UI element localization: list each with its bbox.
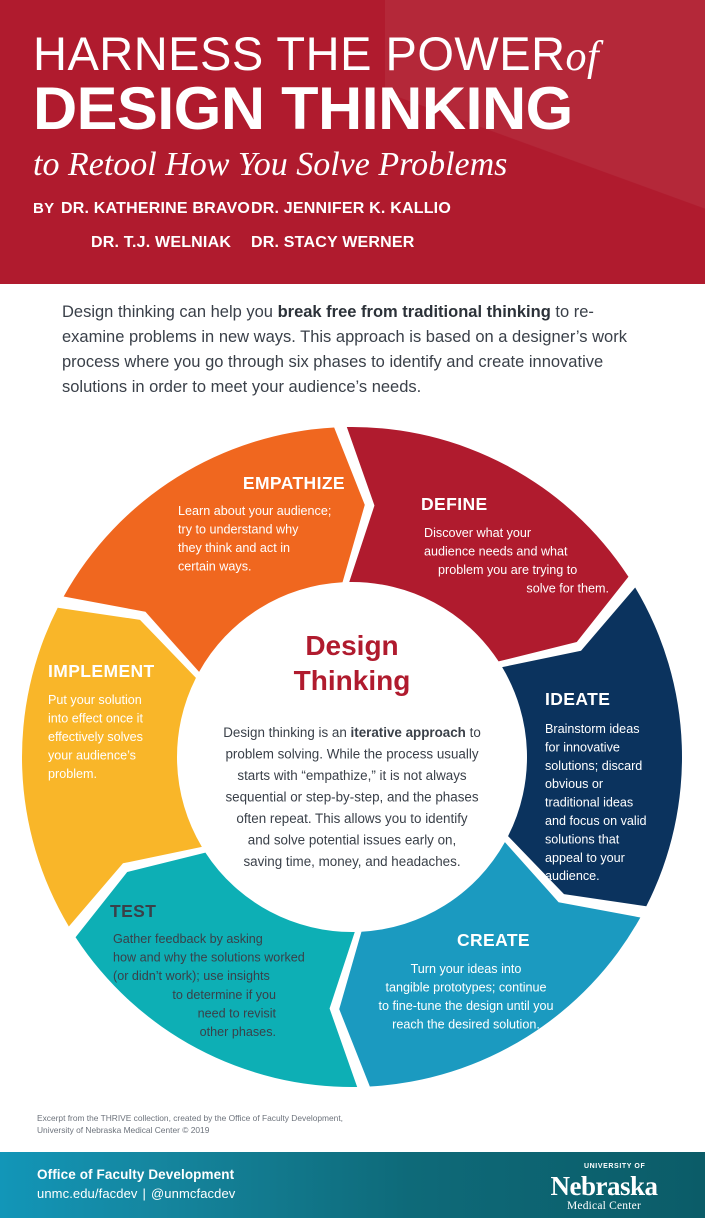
center-body-line: saving time, money, and headaches. xyxy=(243,854,460,869)
unmc-logo: UNIVERSITY OF Nebraska Medical Center xyxy=(529,1163,679,1209)
center-body-line: Design thinking is an iterative approach… xyxy=(223,725,481,740)
center-body-run: Design thinking is an xyxy=(223,725,350,740)
footer-contact: Office of Faculty Development unmc.edu/f… xyxy=(37,1167,235,1201)
center-body-run: starts with “empathize,” it is not alway… xyxy=(237,768,467,783)
segment-body-line-create: to fine-tune the design until you xyxy=(378,999,553,1013)
byline-row: DR. T.J. WELNIAK DR. STACY WERNER xyxy=(33,234,673,268)
segment-title-define: DEFINE xyxy=(421,494,488,514)
page-title-line1-text: HARNESS THE POWER xyxy=(33,27,566,80)
logo-university-of-text: UNIVERSITY OF xyxy=(584,1163,645,1170)
design-thinking-wheel: EMPATHIZELearn about your audience;try t… xyxy=(0,412,705,1102)
footer-social-handle[interactable]: @unmcfacdev xyxy=(151,1186,235,1201)
center-body-run: often repeat. This allows you to identif… xyxy=(236,811,468,826)
segment-body-line-ideate: audience. xyxy=(545,869,600,883)
byline: BY DR. KATHERINE BRAVO DR. JENNIFER K. K… xyxy=(33,200,673,268)
footer-links: unmc.edu/facdev|@unmcfacdev xyxy=(37,1186,235,1201)
author-name-4: DR. STACY WERNER xyxy=(251,234,415,252)
author-name-2: DR. JENNIFER K. KALLIO xyxy=(251,200,451,218)
segment-title-ideate: IDEATE xyxy=(545,689,610,709)
footer-office-name: Office of Faculty Development xyxy=(37,1167,235,1182)
intro-paragraph: Design thinking can help you break free … xyxy=(62,300,642,400)
header-banner: HARNESS THE POWERof DESIGN THINKING to R… xyxy=(0,0,705,284)
segment-body-line-create: Turn your ideas into xyxy=(411,962,522,976)
segment-body-line-empathize: try to understand why xyxy=(178,523,299,537)
byline-by-label: BY xyxy=(33,200,61,217)
segment-body-line-ideate: obvious or xyxy=(545,777,603,791)
segment-body-line-implement: Put your solution xyxy=(48,693,142,707)
credit-line-1: Excerpt from the THRIVE collection, crea… xyxy=(37,1112,597,1124)
center-body-run: saving time, money, and headaches. xyxy=(243,854,460,869)
segment-body-line-define: problem you are trying to xyxy=(438,563,577,577)
segment-body-line-test: (or didn’t work); use insights xyxy=(113,969,270,983)
segment-body-line-ideate: and focus on valid xyxy=(545,814,647,828)
segment-body-line-test: need to revisit xyxy=(198,1006,277,1020)
segment-body-line-implement: problem. xyxy=(48,767,97,781)
segment-body-line-create: tangible prototypes; continue xyxy=(385,981,546,995)
segment-body-line-ideate: Brainstorm ideas xyxy=(545,722,640,736)
segment-body-line-test: to determine if you xyxy=(172,988,276,1002)
center-body-run: problem solving. While the process usual… xyxy=(225,747,478,762)
segment-title-empathize: EMPATHIZE xyxy=(243,473,345,493)
footer-bar: Office of Faculty Development unmc.edu/f… xyxy=(0,1152,705,1218)
center-body-line: and solve potential issues early on, xyxy=(248,833,456,848)
page-title-line3: to Retool How You Solve Problems xyxy=(33,145,507,185)
wheel-center-content: DesignThinkingDesign thinking is an iter… xyxy=(223,630,481,869)
center-title-line-2: Thinking xyxy=(294,665,411,696)
segment-body-line-ideate: solutions; discard xyxy=(545,759,642,773)
page-title-line1-italic: of xyxy=(566,34,600,80)
logo-wordmark: Nebraska xyxy=(529,1173,679,1199)
credit-line-2: University of Nebraska Medical Center © … xyxy=(37,1124,597,1136)
segment-body-line-test: other phases. xyxy=(200,1025,276,1039)
author-name-1: DR. KATHERINE BRAVO xyxy=(61,200,251,218)
segment-body-line-define: Discover what your xyxy=(424,526,531,540)
author-name-3: DR. T.J. WELNIAK xyxy=(61,234,251,252)
segment-body-line-empathize: Learn about your audience; xyxy=(178,504,331,518)
center-body-run: to xyxy=(466,725,481,740)
footer-separator: | xyxy=(138,1186,151,1201)
segment-body-line-implement: effectively solves xyxy=(48,730,143,744)
segment-title-create: CREATE xyxy=(457,930,530,950)
page-title-line2: DESIGN THINKING xyxy=(33,78,573,140)
center-body-emphasis: iterative approach xyxy=(351,725,466,740)
segment-body-line-ideate: appeal to your xyxy=(545,851,625,865)
segment-body-line-implement: your audience’s xyxy=(48,749,136,763)
segment-body-line-define: audience needs and what xyxy=(424,545,568,559)
segment-title-implement: IMPLEMENT xyxy=(48,661,155,681)
footer-url[interactable]: unmc.edu/facdev xyxy=(37,1186,138,1201)
segment-body-line-test: how and why the solutions worked xyxy=(113,951,305,965)
page-title-line1: HARNESS THE POWERof xyxy=(33,30,599,81)
segment-body-line-test: Gather feedback by asking xyxy=(113,932,263,946)
segment-body-line-empathize: certain ways. xyxy=(178,560,252,574)
center-body-line: sequential or step-by-step, and the phas… xyxy=(225,790,478,805)
segment-body-line-create: reach the desired solution. xyxy=(392,1018,540,1032)
credit-note: Excerpt from the THRIVE collection, crea… xyxy=(37,1112,597,1136)
segment-body-line-ideate: traditional ideas xyxy=(545,796,633,810)
center-body-run: sequential or step-by-step, and the phas… xyxy=(225,790,478,805)
segment-body-line-ideate: solutions that xyxy=(545,832,620,846)
segment-body-line-ideate: for innovative xyxy=(545,740,620,754)
center-body-line: often repeat. This allows you to identif… xyxy=(236,811,468,826)
segment-body-line-define: solve for them. xyxy=(526,582,609,596)
byline-row: BY DR. KATHERINE BRAVO DR. JENNIFER K. K… xyxy=(33,200,673,234)
segment-body-line-implement: into effect once it xyxy=(48,712,143,726)
segment-body-line-empathize: they think and act in xyxy=(178,541,290,555)
logo-top-row: UNIVERSITY OF xyxy=(529,1163,679,1173)
center-body-line: problem solving. While the process usual… xyxy=(225,747,478,762)
intro-emphasis: break free from traditional thinking xyxy=(278,303,551,321)
center-body-line: starts with “empathize,” it is not alway… xyxy=(237,768,467,783)
center-title-line-1: Design xyxy=(305,630,398,661)
logo-subtitle: Medical Center xyxy=(529,1200,679,1213)
segment-title-test: TEST xyxy=(110,901,156,921)
wheel-svg: EMPATHIZELearn about your audience;try t… xyxy=(0,412,705,1102)
intro-part1: Design thinking can help you xyxy=(62,303,278,321)
center-body-run: and solve potential issues early on, xyxy=(248,833,456,848)
